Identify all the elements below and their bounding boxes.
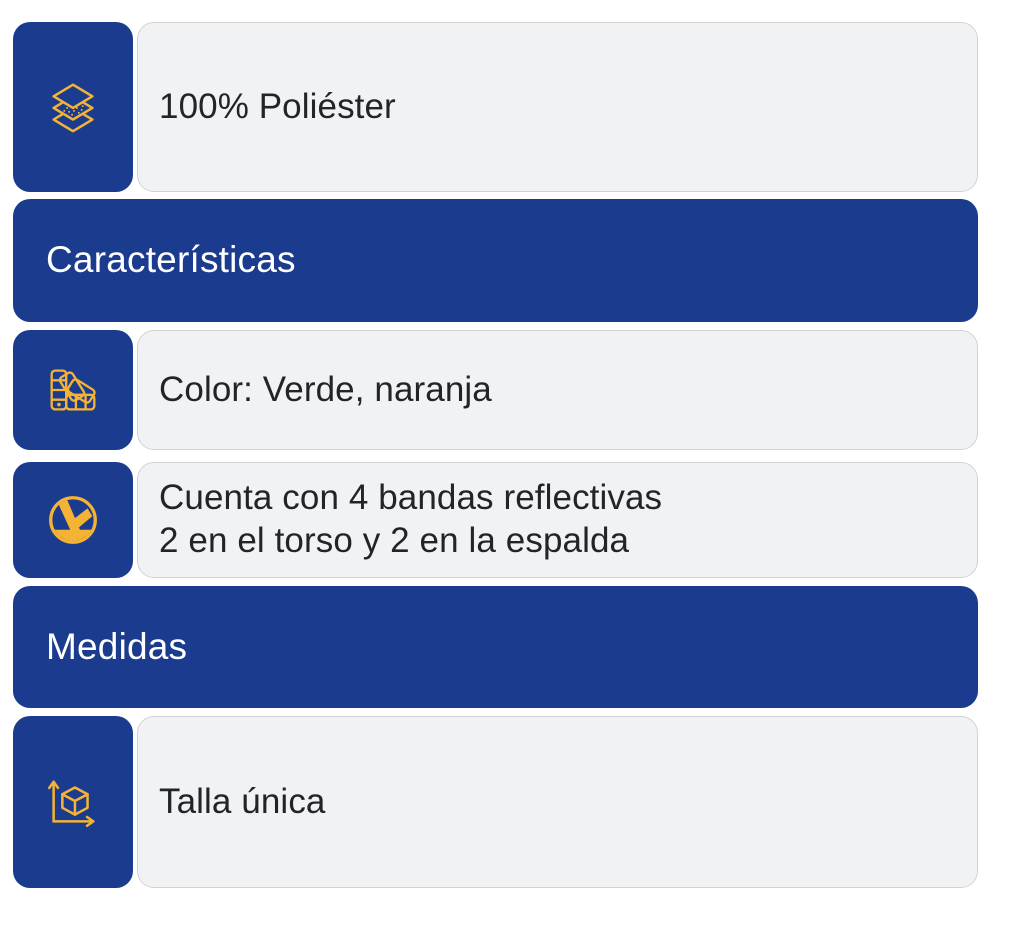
spec-row-color: Color: Verde, naranja <box>0 330 1024 450</box>
bandas-text: Cuenta con 4 bandas reflectivas 2 en el … <box>159 477 662 562</box>
spec-row-material: 100% Poliéster <box>0 22 1024 192</box>
box-dimensions-icon-tile <box>13 716 133 888</box>
color-card: Color: Verde, naranja <box>137 330 978 450</box>
spec-row-bandas: Cuenta con 4 bandas reflectivas 2 en el … <box>0 462 1024 578</box>
section-header-caracteristicas: Características <box>13 199 978 322</box>
safety-vest-badge-icon-tile <box>13 462 133 578</box>
fabric-layers-icon-tile <box>13 22 133 192</box>
bandas-card: Cuenta con 4 bandas reflectivas 2 en el … <box>137 462 978 578</box>
talla-text: Talla única <box>159 781 325 824</box>
color-palette-icon <box>42 359 104 421</box>
section-header-medidas-label: Medidas <box>46 625 187 669</box>
material-text: 100% Poliéster <box>159 86 396 129</box>
safety-vest-badge-icon <box>42 489 104 551</box>
box-dimensions-icon <box>42 771 104 833</box>
material-card: 100% Poliéster <box>137 22 978 192</box>
section-header-medidas: Medidas <box>13 586 978 708</box>
product-spec-sheet: 100% Poliéster Características <box>0 0 1024 933</box>
spec-row-medidas-header: Medidas <box>0 586 1024 708</box>
color-text: Color: Verde, naranja <box>159 369 492 412</box>
section-header-caracteristicas-label: Características <box>46 238 296 282</box>
talla-card: Talla única <box>137 716 978 888</box>
fabric-layers-icon <box>42 76 104 138</box>
spec-row-talla: Talla única <box>0 716 1024 888</box>
spec-row-caracteristicas-header: Características <box>0 199 1024 322</box>
color-palette-icon-tile <box>13 330 133 450</box>
